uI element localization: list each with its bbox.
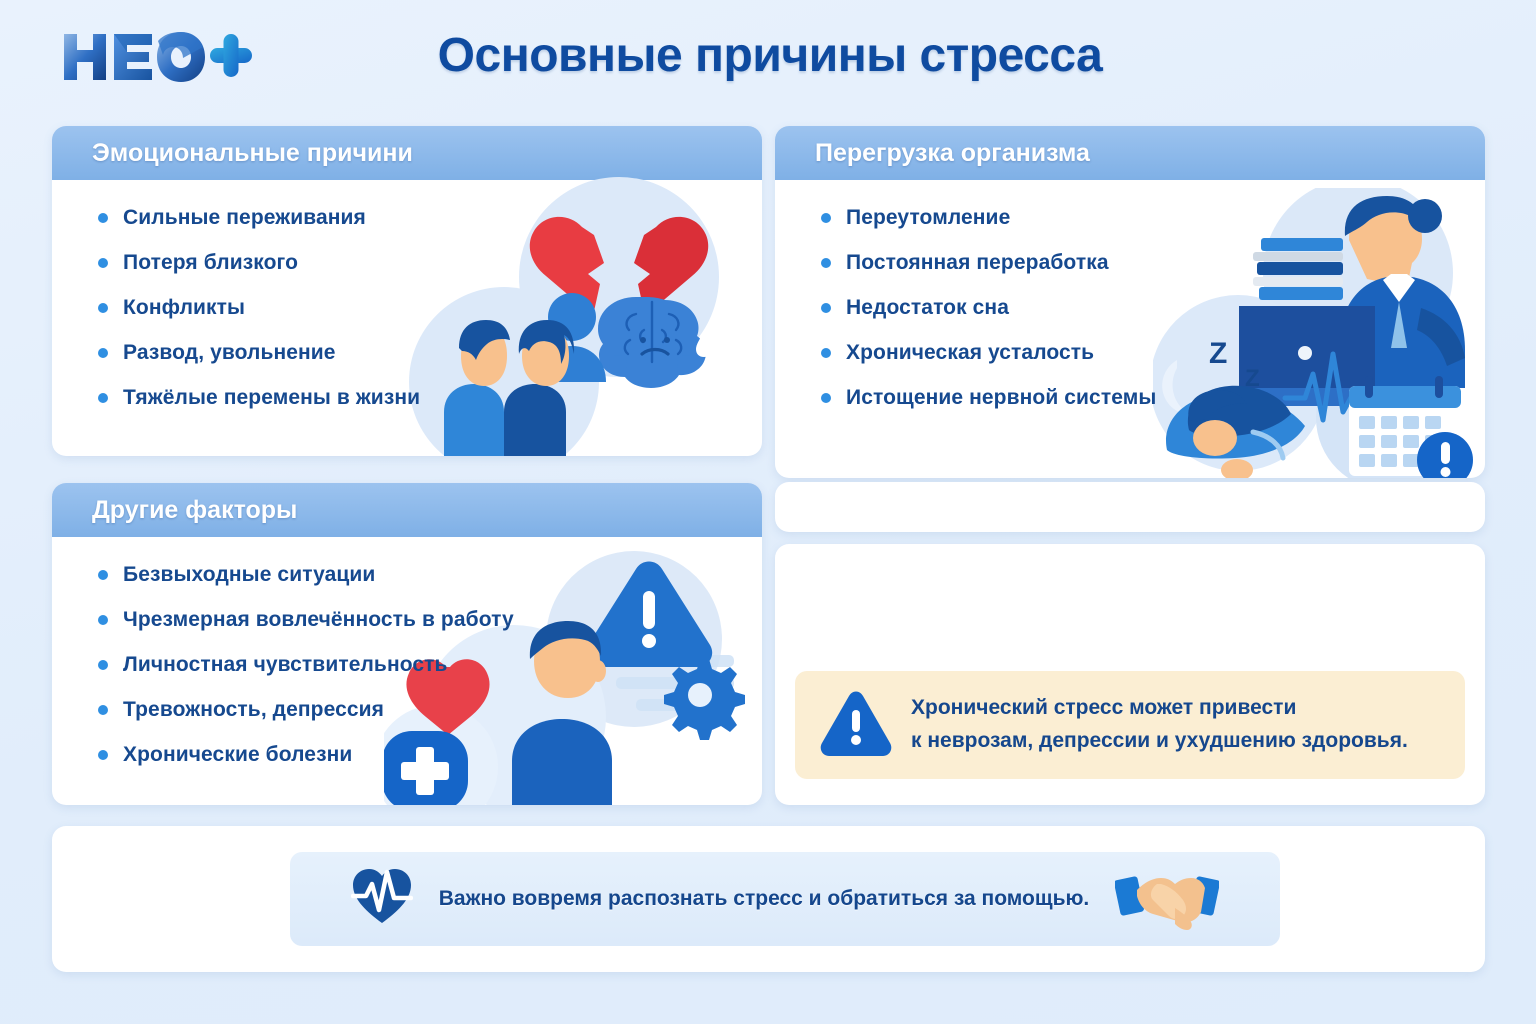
list-item-label: Конфликты: [123, 296, 245, 320]
card-emotional-list: Сильные переживания Потеря близкого Конф…: [52, 180, 762, 410]
bullet-dot-icon: [98, 750, 108, 760]
list-item: Недостаток сна: [821, 296, 1485, 320]
bullet-dot-icon: [821, 258, 831, 268]
list-item-label: Недостаток сна: [846, 296, 1009, 320]
card-emotional-header-label: Эмоциональные причини: [92, 139, 413, 168]
hand-icon: [1221, 459, 1253, 478]
warning-callout: Хронический стресс может привести к невр…: [795, 671, 1465, 779]
list-item-label: Тяжёлые перемены в жизни: [123, 386, 420, 410]
card-other-factors-header: Другие факторы: [52, 483, 762, 537]
card-overload-header: Перегрузка организма: [775, 126, 1485, 180]
list-item-label: Переутомление: [846, 206, 1010, 230]
card-overload-body: Z Z: [775, 180, 1485, 478]
infographic-root: Основные причины стресса Эмоциональные п…: [0, 0, 1536, 1024]
warning-line-2: к неврозам, депрессии и ухудшению здоров…: [911, 725, 1408, 758]
list-item-label: Хронические болезни: [123, 743, 352, 767]
list-item-label: Постоянная переработка: [846, 251, 1109, 275]
bullet-dot-icon: [98, 393, 108, 403]
bullet-dot-icon: [821, 348, 831, 358]
face-icon: [1193, 420, 1237, 456]
list-item: Хроническая усталость: [821, 341, 1485, 365]
bullet-dot-icon: [98, 348, 108, 358]
bullet-dot-icon: [98, 303, 108, 313]
card-overload-header-label: Перегрузка организма: [815, 139, 1090, 168]
bullet-dot-icon: [821, 393, 831, 403]
heart-pulse-icon: [351, 868, 413, 931]
list-item: Потеря близкого: [98, 251, 762, 275]
card-warning: Хронический стресс может привести к невр…: [775, 544, 1485, 805]
list-item: Конфликты: [98, 296, 762, 320]
list-item: Хронические болезни: [98, 743, 762, 767]
brand-logo: [58, 26, 258, 88]
card-other-factors-body: Безвыходные ситуации Чрезмерная вовлечён…: [52, 537, 762, 805]
list-item: Переутомление: [821, 206, 1485, 230]
list-item-label: Сильные переживания: [123, 206, 366, 230]
list-item: Безвыходные ситуации: [98, 563, 762, 587]
bullet-dot-icon: [821, 303, 831, 313]
page-title: Основные причины стресса: [300, 28, 1240, 83]
bullet-dot-icon: [821, 213, 831, 223]
list-item: Сильные переживания: [98, 206, 762, 230]
warning-text: Хронический стресс может привести к невр…: [911, 692, 1408, 757]
bullet-dot-icon: [98, 660, 108, 670]
list-item: Истощение нервной системы: [821, 386, 1485, 410]
list-item-label: Тревожность, депрессия: [123, 698, 384, 722]
bullet-dot-icon: [98, 705, 108, 715]
bullet-dot-icon: [98, 258, 108, 268]
card-other-factors: Другие факторы: [52, 483, 762, 805]
list-item-label: Истощение нервной системы: [846, 386, 1156, 410]
list-item: Развод, увольнение: [98, 341, 762, 365]
card-emotional-header: Эмоциональные причини: [52, 126, 762, 180]
list-item: Чрезмерная вовлечённость в работу: [98, 608, 762, 632]
list-item: Тревожность, депрессия: [98, 698, 762, 722]
list-item-label: Безвыходные ситуации: [123, 563, 375, 587]
list-item-label: Чрезмерная вовлечённость в работу: [123, 608, 514, 632]
card-spacer-right: [775, 482, 1485, 532]
handshake-icon: [1115, 864, 1219, 935]
card-other-factors-header-label: Другие факторы: [92, 496, 297, 525]
card-emotional-body: Сильные переживания Потеря близкого Конф…: [52, 180, 762, 456]
bullet-dot-icon: [98, 570, 108, 580]
list-item: Постоянная переработка: [821, 251, 1485, 275]
card-overload: Перегрузка организма: [775, 126, 1485, 478]
card-overload-list: Переутомление Постоянная переработка Нед…: [775, 180, 1485, 410]
bullet-dot-icon: [98, 615, 108, 625]
list-item-label: Потеря близкого: [123, 251, 298, 275]
card-emotional: Эмоциональные причини: [52, 126, 762, 456]
card-other-factors-list: Безвыходные ситуации Чрезмерная вовлечён…: [52, 537, 762, 767]
list-item: Личностная чувствительность: [98, 653, 762, 677]
warning-line-1: Хронический стресс может привести: [911, 692, 1408, 725]
list-item-label: Личностная чувствительность: [123, 653, 448, 677]
card-bottom-banner: Важно вовремя распознать стресс и обрати…: [52, 826, 1485, 972]
banner-text: Важно вовремя распознать стресс и обрати…: [439, 887, 1090, 911]
banner-inner: Важно вовремя распознать стресс и обрати…: [290, 852, 1280, 946]
warning-triangle-icon: [819, 690, 893, 761]
list-item-label: Хроническая усталость: [846, 341, 1094, 365]
list-item: Тяжёлые перемены в жизни: [98, 386, 762, 410]
neo-plus-logo-icon: [58, 26, 258, 88]
bullet-dot-icon: [98, 213, 108, 223]
list-item-label: Развод, увольнение: [123, 341, 336, 365]
